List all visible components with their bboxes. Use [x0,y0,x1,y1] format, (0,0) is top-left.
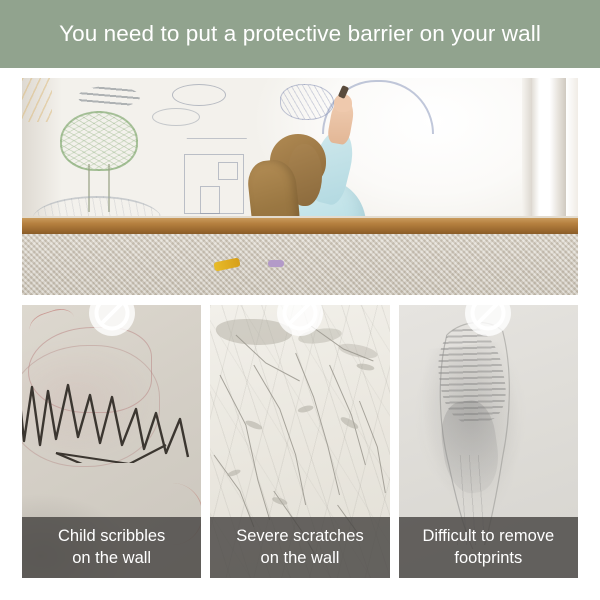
caption-line-2: on the wall [261,549,340,568]
crayon-on-floor-purple [268,260,284,267]
problem-panels-row: Child scribbles on the wall [22,305,578,578]
caption-line-1: Difficult to remove [422,527,554,546]
panel-child-scribbles[interactable]: Child scribbles on the wall [22,305,201,578]
caption-line-2: on the wall [72,549,151,568]
prohibition-icon [275,305,325,338]
carpet-floor [22,234,578,295]
header-banner: You need to put a protective barrier on … [0,0,600,68]
page-title: You need to put a protective barrier on … [59,21,541,47]
panel-severe-scratches[interactable]: Severe scratches on the wall [210,305,389,578]
caption-line-2: footprints [454,549,522,568]
caption-line-1: Child scribbles [58,527,165,546]
door-frame-column [532,78,566,228]
hero-wall-shadow [22,78,62,221]
hero-photo [22,78,578,295]
door-frame-edge [566,78,578,228]
panel-caption: Severe scratches on the wall [210,517,389,578]
panel-caption: Child scribbles on the wall [22,517,201,578]
prohibition-icon [463,305,513,338]
door-frame-inner [522,78,532,225]
product-infographic-page: You need to put a protective barrier on … [0,0,600,600]
panel-difficult-footprints[interactable]: Difficult to remove footprints [399,305,578,578]
panel-caption: Difficult to remove footprints [399,517,578,578]
prohibition-icon [87,305,137,338]
wood-baseboard [22,218,578,234]
caption-line-1: Severe scratches [236,527,363,546]
